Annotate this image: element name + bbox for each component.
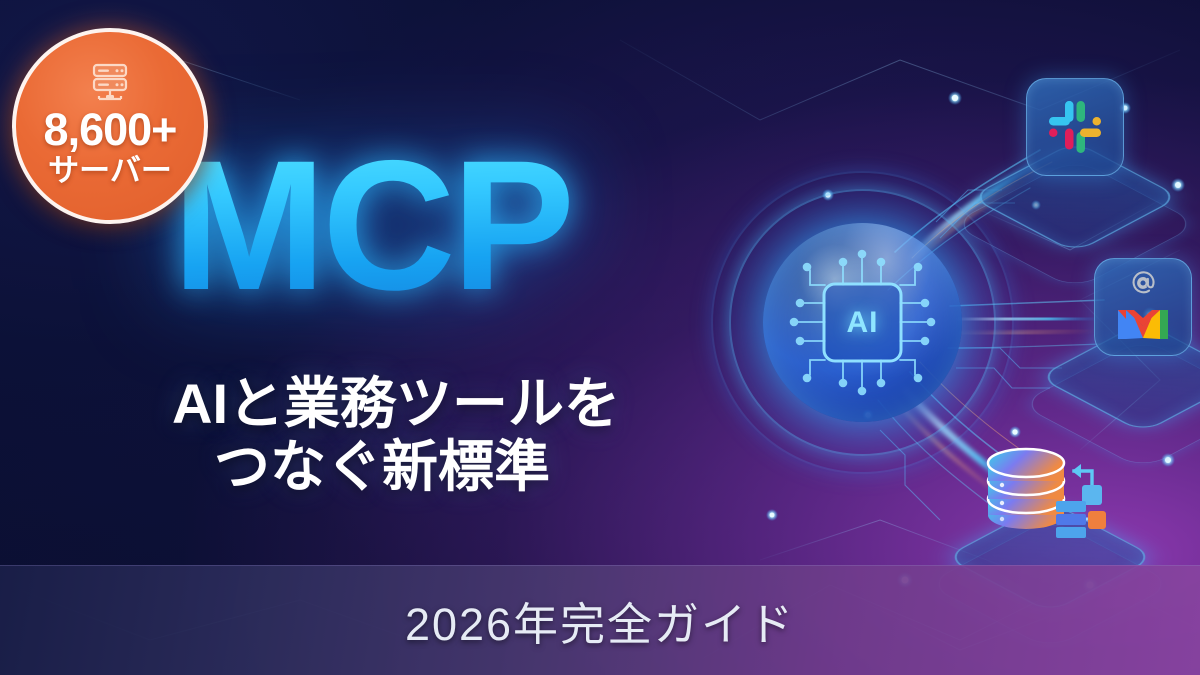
page-subtitle: AIと業務ツールを つなぐ新標準 (172, 372, 792, 499)
subtitle-line-1: AIと業務ツールを (172, 372, 620, 435)
page-title: MCP (172, 140, 571, 314)
gmail-logo-icon (1114, 297, 1172, 341)
hero-banner: AI (0, 0, 1200, 675)
database-card[interactable] (980, 438, 1120, 536)
server-count-badge: 8,600+ サーバー (12, 28, 208, 224)
subtitle-line-2: つなぐ新標準 (172, 435, 792, 498)
at-sign-icon (1130, 270, 1156, 296)
slack-card[interactable] (1026, 78, 1124, 176)
badge-count: 8,600+ (44, 107, 177, 152)
gmail-card[interactable] (1094, 258, 1192, 356)
database-stack-icon (982, 435, 1118, 539)
slack-logo-icon (1045, 97, 1105, 157)
server-rack-icon (87, 63, 133, 105)
footer-band: 2026年完全ガイド (0, 565, 1200, 675)
badge-label: サーバー (48, 154, 172, 188)
footer-text: 2026年完全ガイド (405, 588, 795, 653)
